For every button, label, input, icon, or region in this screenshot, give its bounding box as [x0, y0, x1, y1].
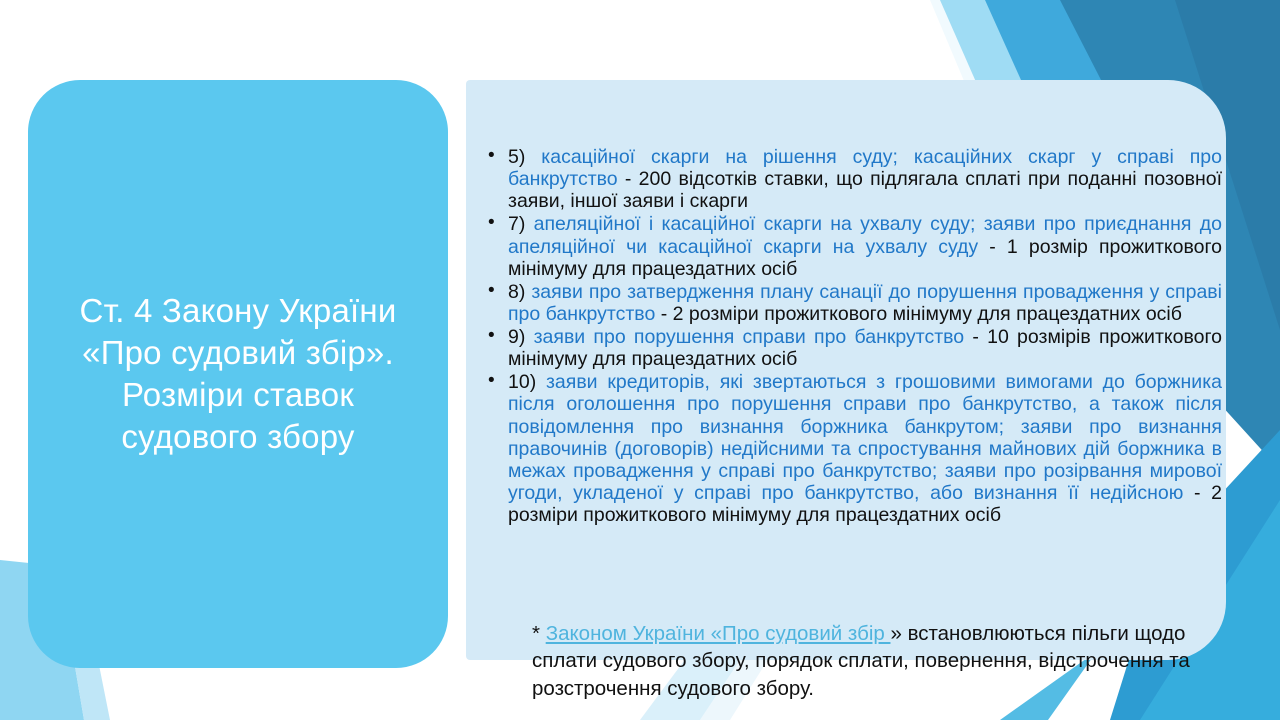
- slide-canvas: Ст. 4 Закону України «Про судовий збір».…: [0, 0, 1280, 720]
- title-panel: Ст. 4 Закону України «Про судовий збір».…: [28, 80, 448, 668]
- list-item: 5) касаційної скарги на рішення суду; ка…: [470, 146, 1222, 212]
- bullet-list: 5) касаційної скарги на рішення суду; ка…: [470, 146, 1222, 527]
- bullet-rest: - 2 розміри прожиткового мінімуму для пр…: [655, 303, 1182, 325]
- bullet-number: 5): [508, 146, 541, 168]
- list-item: 9) заяви про порушення справи про банкру…: [470, 326, 1222, 370]
- footnote: * Законом України «Про судовий збір » вс…: [532, 620, 1232, 702]
- list-item: 8) заяви про затвердження плану санації …: [470, 281, 1222, 325]
- bullet-highlight: заяви кредиторів, які звертаються з грош…: [508, 371, 1222, 504]
- bullet-number: 10): [508, 371, 546, 393]
- footnote-asterisk: *: [532, 622, 546, 645]
- footnote-link[interactable]: Законом України «Про судовий збір: [546, 622, 891, 645]
- list-item: 7) апеляційної і касаційної скарги на ух…: [470, 213, 1222, 279]
- bullet-highlight: заяви про порушення справи про банкрутст…: [534, 326, 965, 348]
- page-title: Ст. 4 Закону України «Про судовий збір».…: [52, 290, 424, 459]
- bullet-number: 8): [508, 281, 531, 303]
- bullet-number: 7): [508, 213, 534, 235]
- bullet-number: 9): [508, 326, 534, 348]
- list-item: 10) заяви кредиторів, які звертаються з …: [470, 371, 1222, 526]
